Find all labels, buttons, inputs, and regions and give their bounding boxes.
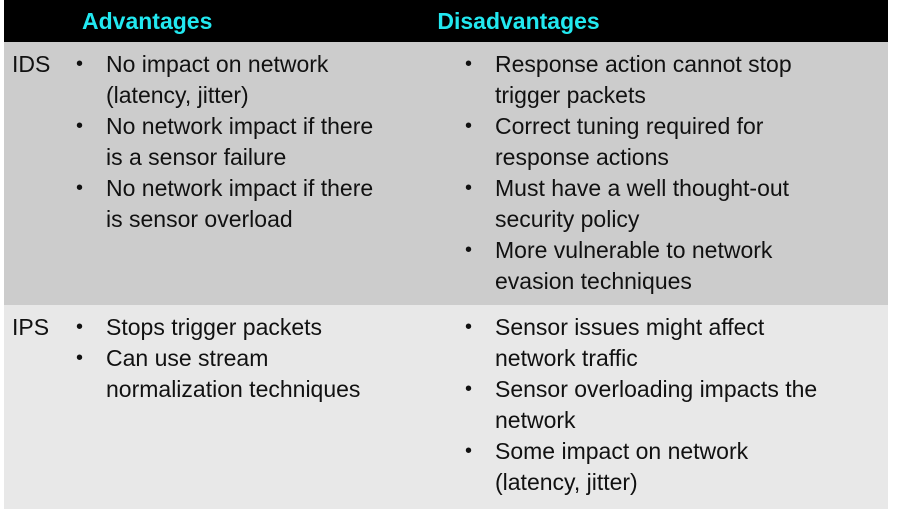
list-item: Sensor issues might affect network traff…: [461, 312, 880, 374]
list-item-line: Correct tuning required for: [495, 111, 880, 142]
list-item-line: trigger packets: [495, 80, 880, 111]
list-item: No network impact if there is sensor ove…: [72, 173, 443, 235]
list-item-line: network traffic: [495, 343, 880, 374]
list-item: Must have a well thought-out security po…: [461, 173, 880, 235]
list-item-line: Some impact on network: [495, 436, 880, 467]
list-item: No network impact if there is a sensor f…: [72, 111, 443, 173]
column-header-advantages: Advantages: [82, 10, 212, 33]
list-item-line: Can use stream: [106, 343, 443, 374]
list-item: No impact on network (latency, jitter): [72, 49, 443, 111]
list-item: More vulnerable to network evasion techn…: [461, 235, 880, 297]
list-item-line: No network impact if there: [106, 173, 443, 204]
list-item-line: network: [495, 405, 880, 436]
list-item: Sensor overloading impacts the network: [461, 374, 880, 436]
list-ids-disadvantages: Response action cannot stop trigger pack…: [461, 49, 880, 297]
table-row-ips: IPS Stops trigger packets Can use stream…: [4, 305, 888, 509]
list-item-line: Response action cannot stop: [495, 49, 880, 80]
list-item-line: No network impact if there: [106, 111, 443, 142]
list-ips-advantages: Stops trigger packets Can use stream nor…: [72, 312, 443, 405]
list-item: Correct tuning required for response act…: [461, 111, 880, 173]
row-label-ids: IDS: [4, 49, 72, 305]
list-item-line: response actions: [495, 142, 880, 173]
list-ips-disadvantages: Sensor issues might affect network traff…: [461, 312, 880, 498]
list-item-line: evasion techniques: [495, 266, 880, 297]
cell-ips-advantages: Stops trigger packets Can use stream nor…: [72, 312, 443, 509]
list-item-line: (latency, jitter): [106, 80, 443, 111]
list-item-line: No impact on network: [106, 49, 443, 80]
table-header-row: Advantages Disadvantages: [4, 0, 888, 42]
list-item-line: security policy: [495, 204, 880, 235]
cell-ids-advantages: No impact on network (latency, jitter) N…: [72, 49, 443, 305]
list-item: Stops trigger packets: [72, 312, 443, 343]
list-item-line: Sensor overloading impacts the: [495, 374, 880, 405]
row-label-ips: IPS: [4, 312, 72, 509]
table-row-ids: IDS No impact on network (latency, jitte…: [4, 42, 888, 305]
list-item-line: is a sensor failure: [106, 142, 443, 173]
cell-ips-disadvantages: Sensor issues might affect network traff…: [443, 312, 880, 509]
comparison-table: Advantages Disadvantages IDS No impact o…: [4, 0, 888, 509]
list-ids-advantages: No impact on network (latency, jitter) N…: [72, 49, 443, 235]
list-item-line: Stops trigger packets: [106, 312, 443, 343]
list-item-line: Sensor issues might affect: [495, 312, 880, 343]
cell-ids-disadvantages: Response action cannot stop trigger pack…: [443, 49, 880, 305]
list-item: Can use stream normalization techniques: [72, 343, 443, 405]
list-item-line: (latency, jitter): [495, 467, 880, 498]
column-header-disadvantages: Disadvantages: [437, 10, 599, 33]
list-item-line: normalization techniques: [106, 374, 443, 405]
list-item: Some impact on network (latency, jitter): [461, 436, 880, 498]
list-item-line: Must have a well thought-out: [495, 173, 880, 204]
list-item-line: More vulnerable to network: [495, 235, 880, 266]
list-item: Response action cannot stop trigger pack…: [461, 49, 880, 111]
list-item-line: is sensor overload: [106, 204, 443, 235]
